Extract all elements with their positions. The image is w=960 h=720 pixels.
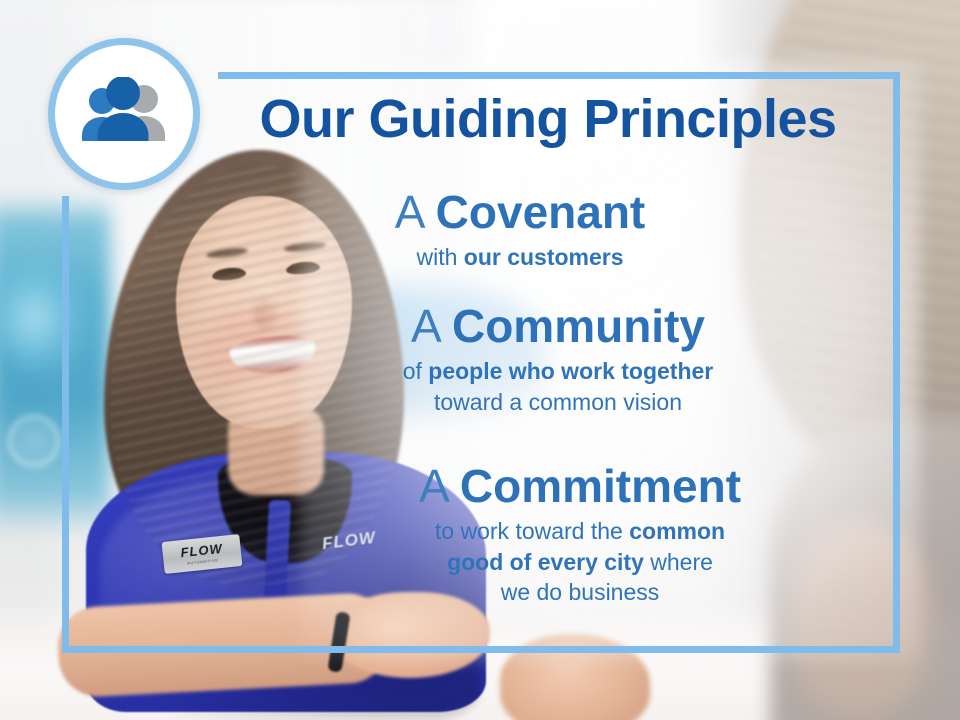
principle-community: A Community of people who work togethert… [228, 302, 888, 417]
body-emphasis: common [629, 518, 725, 544]
slide-canvas: FLOW AUTOMOTIVE FLOW Our Guiding P [0, 0, 960, 720]
body-text: where [644, 549, 713, 575]
frame-border-left [62, 196, 69, 653]
principle-body-line: with our customers [190, 242, 850, 272]
principle-article: A [419, 460, 460, 512]
guiding-principles-badge [48, 38, 200, 190]
body-text: with [416, 244, 463, 270]
principle-keyword: Covenant [436, 186, 646, 238]
principle-body: to work toward the commongood of every c… [250, 516, 910, 607]
frame-border-top [218, 72, 900, 79]
photo-vw-emblem [8, 415, 60, 467]
body-text: toward a common vision [434, 389, 682, 415]
frame-border-bottom [62, 646, 900, 653]
page-title: Our Guiding Principles [218, 92, 878, 146]
principle-body-line: toward a common vision [228, 387, 888, 417]
body-emphasis: people who work together [428, 358, 713, 384]
principle-covenant: A Covenant with our customers [190, 188, 850, 273]
principle-title: A Covenant [190, 188, 850, 236]
principle-article: A [395, 186, 436, 238]
principle-title: A Community [228, 302, 888, 350]
principle-body-line: of people who work together [228, 356, 888, 386]
body-emphasis: good of every city [447, 549, 644, 575]
people-group-icon [76, 77, 172, 151]
principle-commitment: A Commitment to work toward the commongo… [250, 462, 910, 607]
body-text: we do business [501, 579, 660, 605]
photo-showroom-car [0, 252, 92, 372]
principle-title: A Commitment [250, 462, 910, 510]
principle-keyword: Commitment [460, 460, 741, 512]
principle-body-line: good of every city where [250, 547, 910, 577]
body-text: to work toward the [435, 518, 629, 544]
body-text: of [403, 358, 429, 384]
principle-body-line: we do business [250, 577, 910, 607]
principle-body: of people who work togethertoward a comm… [228, 356, 888, 417]
principle-body: with our customers [190, 242, 850, 272]
principle-body-line: to work toward the common [250, 516, 910, 546]
principle-article: A [411, 300, 452, 352]
body-emphasis: our customers [464, 244, 624, 270]
principle-keyword: Community [452, 300, 705, 352]
